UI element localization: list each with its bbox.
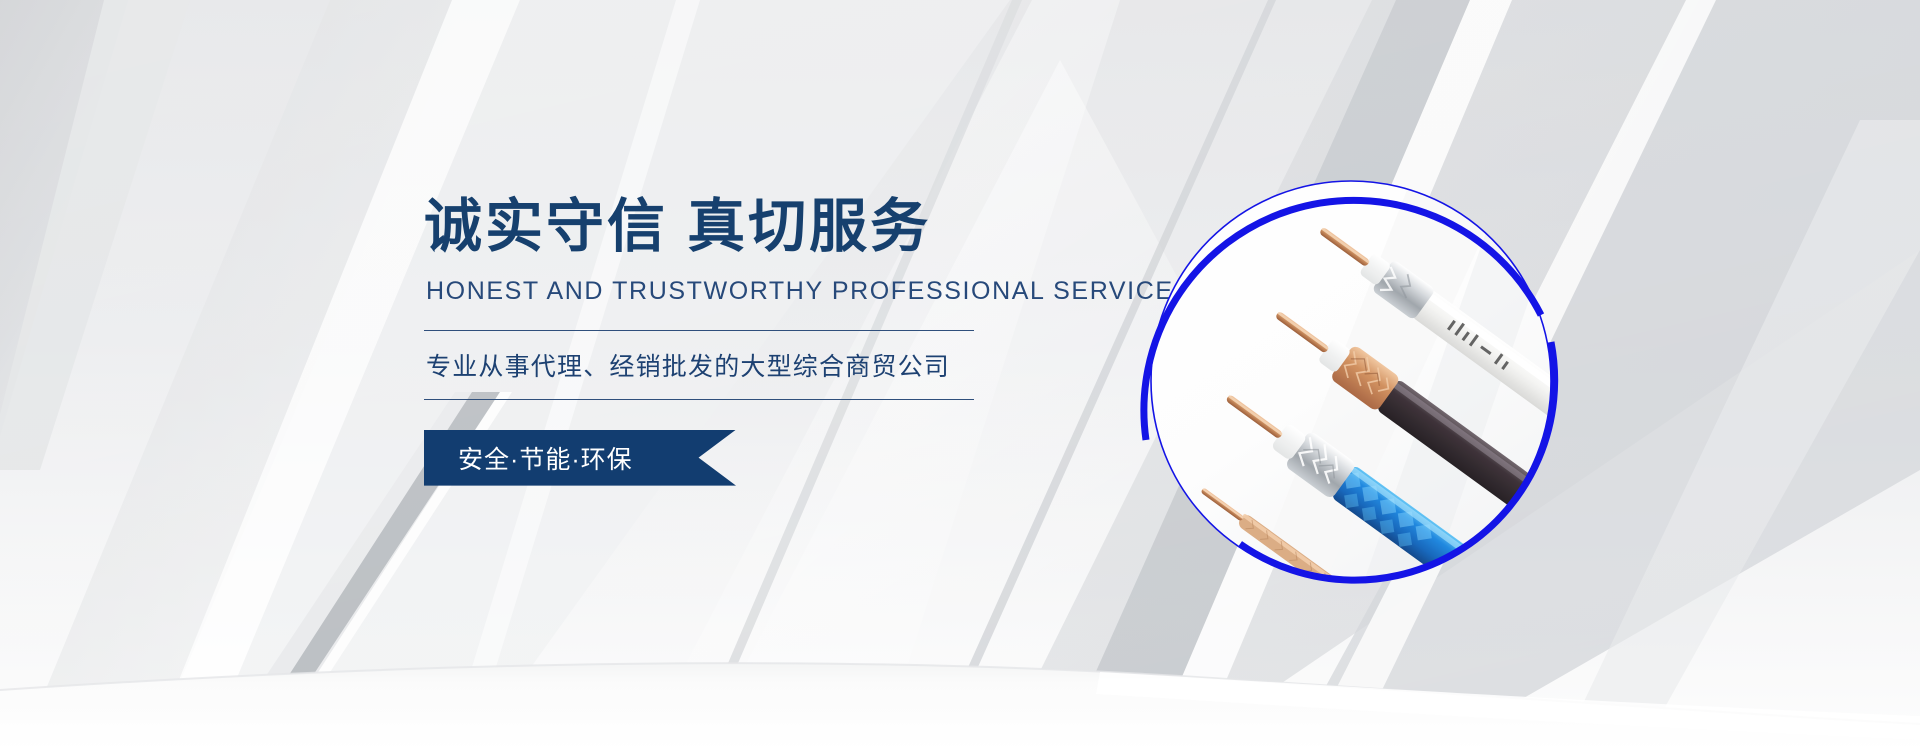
subtitle-english: HONEST AND TRUSTWORTHY PROFESSIONAL SERV… bbox=[426, 277, 1044, 306]
hero-copy: 诚实守信 真切服务 HONEST AND TRUSTWORTHY PROFESS… bbox=[424, 196, 1044, 486]
ribbon-label: 安全·节能·环保 bbox=[424, 440, 633, 476]
page-title: 诚实守信 真切服务 bbox=[424, 196, 1044, 259]
product-circle-media bbox=[1122, 152, 1580, 610]
feature-ribbon-badge: 安全·节能·环保 bbox=[424, 430, 736, 486]
hero-banner: 诚实守信 真切服务 HONEST AND TRUSTWORTHY PROFESS… bbox=[0, 0, 1920, 752]
subtitle-chinese: 专业从事代理、经销批发的大型综合商贸公司 bbox=[424, 347, 974, 383]
subtitle-rule-box: 专业从事代理、经销批发的大型综合商贸公司 bbox=[424, 330, 974, 400]
